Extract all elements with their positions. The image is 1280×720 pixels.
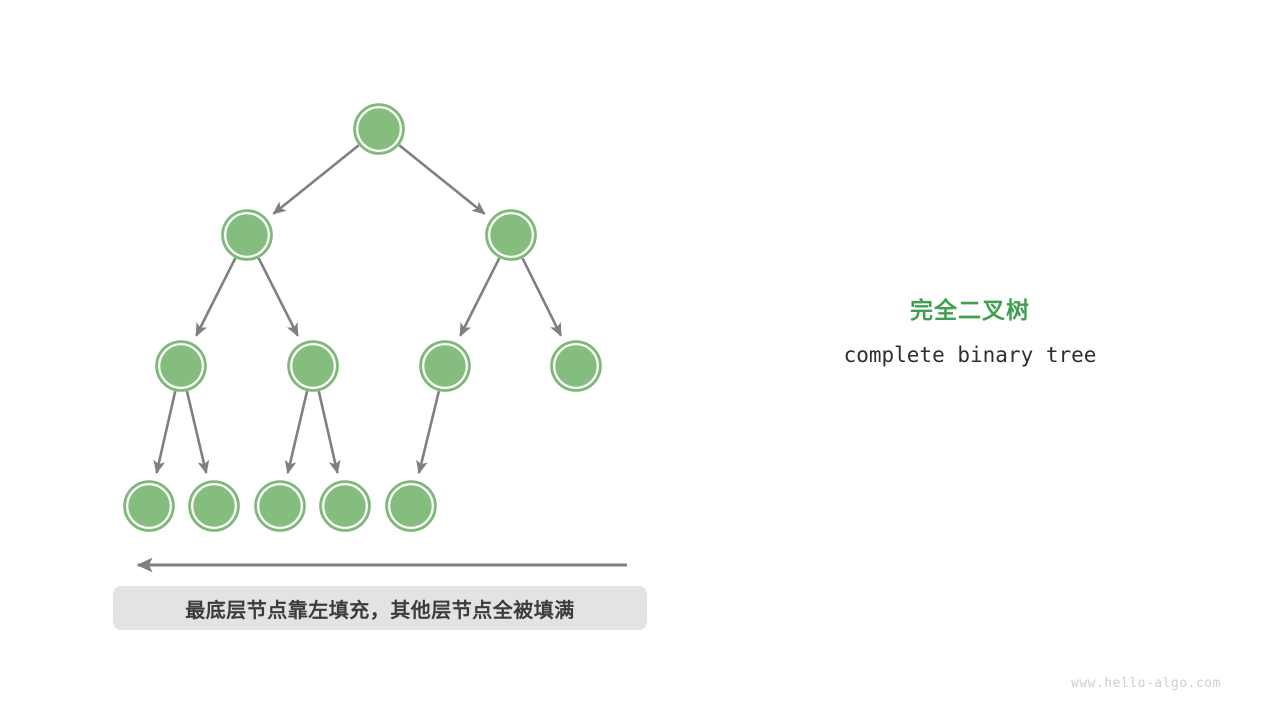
tree-node [420, 341, 470, 391]
tree-node [189, 481, 239, 531]
node-disc [325, 486, 366, 527]
legend-subtitle: complete binary tree [810, 342, 1130, 368]
caption-banner: 最底层节点靠左填充，其他层节点全被填满 [113, 586, 647, 630]
tree-node [320, 481, 370, 531]
tree-node [386, 481, 436, 531]
tree-edge [187, 391, 206, 473]
node-disc [161, 346, 202, 387]
node-disc [359, 109, 400, 150]
node-disc [391, 486, 432, 527]
tree-edge [157, 391, 176, 473]
tree-edges [157, 145, 561, 473]
node-disc [129, 486, 170, 527]
tree-node [156, 341, 206, 391]
tree-edge [274, 145, 359, 213]
tree-edge [288, 391, 307, 473]
tree-node [124, 481, 174, 531]
legend-title: 完全二叉树 [810, 296, 1130, 324]
node-disc [556, 346, 597, 387]
node-disc [227, 215, 268, 256]
tree-edge [259, 258, 298, 335]
tree-node [354, 104, 404, 154]
tree-edge [523, 258, 561, 335]
tree-node [486, 210, 536, 260]
tree-nodes [124, 104, 601, 531]
tree-node [551, 341, 601, 391]
legend-block: 完全二叉树 complete binary tree [810, 296, 1130, 368]
tree-edge [419, 391, 439, 473]
tree-edge [399, 145, 484, 213]
tree-node [222, 210, 272, 260]
tree-edge [319, 391, 338, 473]
node-disc [293, 346, 334, 387]
tree-node [255, 481, 305, 531]
node-disc [260, 486, 301, 527]
tree-edge [196, 258, 235, 335]
tree-edge [460, 258, 499, 335]
node-disc [425, 346, 466, 387]
node-disc [194, 486, 235, 527]
node-disc [491, 215, 532, 256]
watermark-text: www.hello-algo.com [1071, 676, 1221, 691]
tree-node [288, 341, 338, 391]
diagram-canvas: 最底层节点靠左填充，其他层节点全被填满 完全二叉树 complete binar… [0, 0, 1280, 720]
caption-text: 最底层节点靠左填充，其他层节点全被填满 [185, 594, 575, 623]
